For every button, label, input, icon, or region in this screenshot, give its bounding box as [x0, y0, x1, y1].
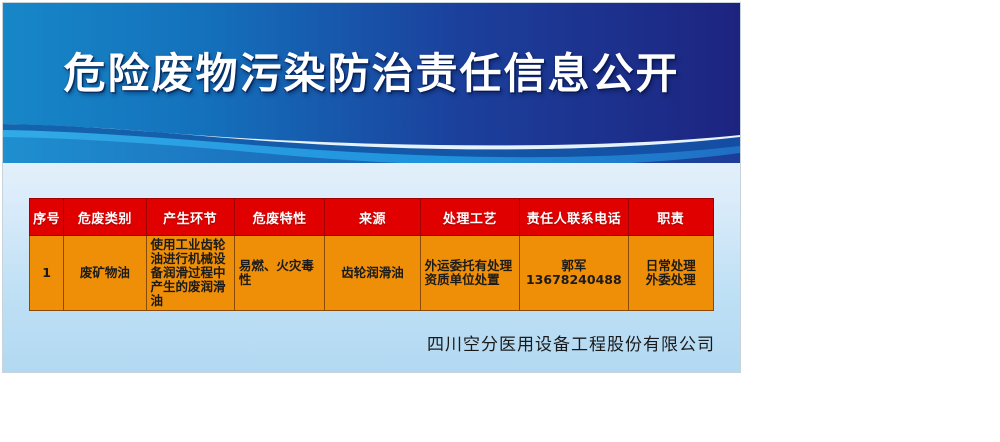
cell-source: 齿轮润滑油: [325, 236, 420, 311]
information-disclosure-poster: 危险废物污染防治责任信息公开 序号 危废类别 产生环节 危废特性 来源 处理工艺…: [3, 3, 740, 372]
duty-line-2: 外委处理: [633, 273, 709, 287]
company-name: 四川空分医用设备工程股份有限公司: [3, 330, 715, 355]
table-header-row: 序号 危废类别 产生环节 危废特性 来源 处理工艺 责任人联系电话 职责: [30, 199, 714, 236]
contact-phone-number: 13678240488: [524, 273, 623, 287]
column-header-source: 来源: [325, 199, 420, 236]
cell-contact: 郭军 13678240488: [520, 236, 628, 311]
contact-person-name: 郭军: [524, 259, 623, 273]
column-header-hazard: 危废特性: [234, 199, 324, 236]
poster-banner: 危险废物污染防治责任信息公开: [3, 3, 740, 163]
hazardous-waste-table: 序号 危废类别 产生环节 危废特性 来源 处理工艺 责任人联系电话 职责 1 废…: [29, 198, 714, 311]
cell-no: 1: [30, 236, 64, 311]
column-header-stage: 产生环节: [146, 199, 234, 236]
cell-category: 废矿物油: [64, 236, 146, 311]
page-title: 危险废物污染防治责任信息公开: [3, 53, 740, 95]
column-header-duty: 职责: [628, 199, 713, 236]
cell-hazard: 易燃、火灾毒性: [234, 236, 324, 311]
cell-stage: 使用工业齿轮油进行机械设备润滑过程中产生的废润滑油: [146, 236, 234, 311]
column-header-category: 危废类别: [64, 199, 146, 236]
duty-line-1: 日常处理: [633, 259, 709, 273]
column-header-contact: 责任人联系电话: [520, 199, 628, 236]
column-header-process: 处理工艺: [420, 199, 519, 236]
cell-duty: 日常处理 外委处理: [628, 236, 713, 311]
column-header-no: 序号: [30, 199, 64, 236]
cell-process: 外运委托有处理资质单位处置: [420, 236, 519, 311]
table-row: 1 废矿物油 使用工业齿轮油进行机械设备润滑过程中产生的废润滑油 易燃、火灾毒性…: [30, 236, 714, 311]
